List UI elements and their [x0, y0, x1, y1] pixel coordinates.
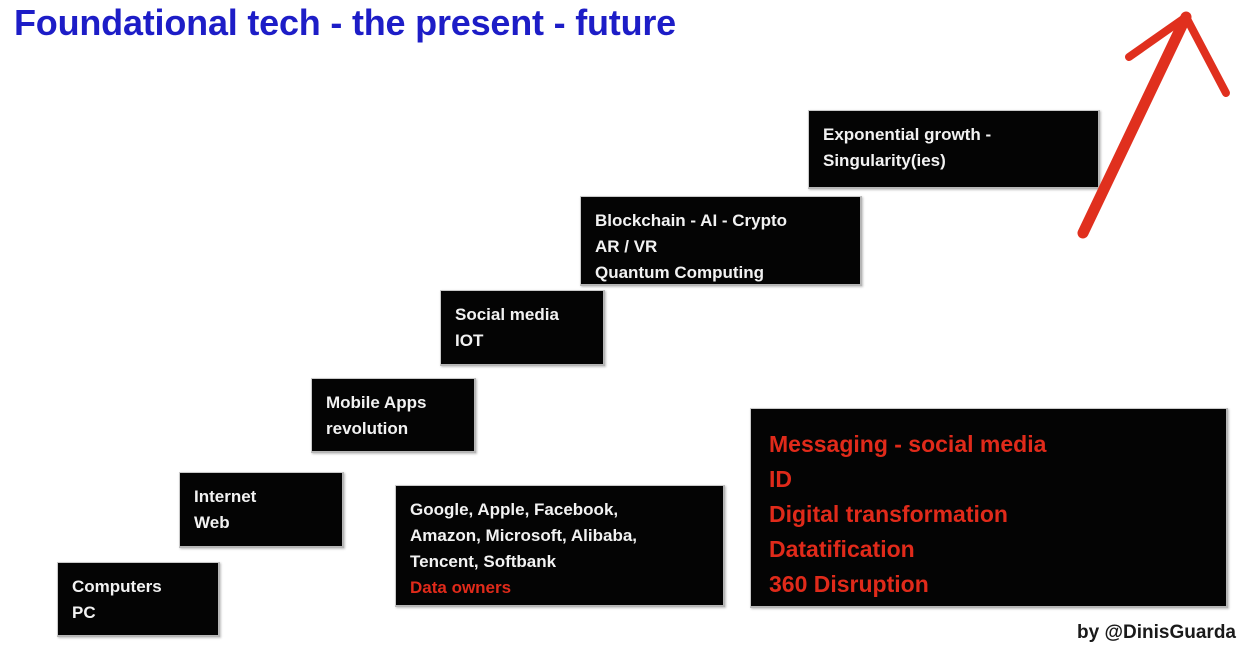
step-line: PC — [72, 600, 212, 626]
arrow-head-right — [1186, 17, 1226, 93]
step-box-mobile-apps: Mobile Apps revolution — [311, 378, 476, 453]
step-line: Social media — [455, 302, 597, 328]
panel-line: ID — [769, 462, 1220, 497]
step-line: AR / VR — [595, 234, 854, 260]
step-box-mobile-apps-lines: Mobile Apps revolution — [326, 390, 468, 442]
panel-disruption-themes-lines: Messaging - social media ID Digital tran… — [769, 427, 1220, 602]
step-box-exponential-growth-lines: Exponential growth - Singularity(ies) — [823, 122, 1092, 174]
step-box-social-media-iot: Social media IOT — [440, 290, 605, 366]
step-box-social-media-iot-lines: Social media IOT — [455, 302, 597, 354]
panel-line: 360 Disruption — [769, 567, 1220, 602]
panel-big-tech-companies: Google, Apple, Facebook, Amazon, Microso… — [395, 485, 725, 607]
panel-line: Tencent, Softbank — [410, 549, 717, 575]
page-title: Foundational tech - the present - future — [14, 2, 676, 43]
step-box-computers-pc-lines: Computers PC — [72, 574, 212, 626]
step-line: Mobile Apps — [326, 390, 468, 416]
panel-line: Datatification — [769, 532, 1220, 567]
arrow-head-left — [1129, 17, 1186, 57]
step-line: Internet — [194, 484, 336, 510]
attribution-credit: by @DinisGuarda — [1077, 622, 1236, 644]
step-line: Exponential growth - — [823, 122, 1092, 148]
panel-line-data-owners: Data owners — [410, 575, 717, 601]
panel-big-tech-companies-lines: Google, Apple, Facebook, Amazon, Microso… — [410, 497, 717, 601]
panel-disruption-themes: Messaging - social media ID Digital tran… — [750, 408, 1228, 608]
slide-canvas: Foundational tech - the present - future… — [0, 0, 1250, 656]
step-line: Singularity(ies) — [823, 148, 1092, 174]
step-line: Web — [194, 510, 336, 536]
step-line: Computers — [72, 574, 212, 600]
step-line: Quantum Computing — [595, 260, 854, 286]
step-line: IOT — [455, 328, 597, 354]
step-box-internet-web-lines: Internet Web — [194, 484, 336, 536]
step-box-blockchain-ai-crypto-lines: Blockchain - AI - Crypto AR / VR Quantum… — [595, 208, 854, 286]
step-box-exponential-growth: Exponential growth - Singularity(ies) — [808, 110, 1100, 189]
panel-line: Messaging - social media — [769, 427, 1220, 462]
step-box-internet-web: Internet Web — [179, 472, 344, 548]
step-box-blockchain-ai-crypto: Blockchain - AI - Crypto AR / VR Quantum… — [580, 196, 862, 286]
step-box-computers-pc: Computers PC — [57, 562, 220, 637]
panel-line: Amazon, Microsoft, Alibaba, — [410, 523, 717, 549]
panel-line: Google, Apple, Facebook, — [410, 497, 717, 523]
step-line: Blockchain - AI - Crypto — [595, 208, 854, 234]
step-line: revolution — [326, 416, 468, 442]
panel-line: Digital transformation — [769, 497, 1220, 532]
